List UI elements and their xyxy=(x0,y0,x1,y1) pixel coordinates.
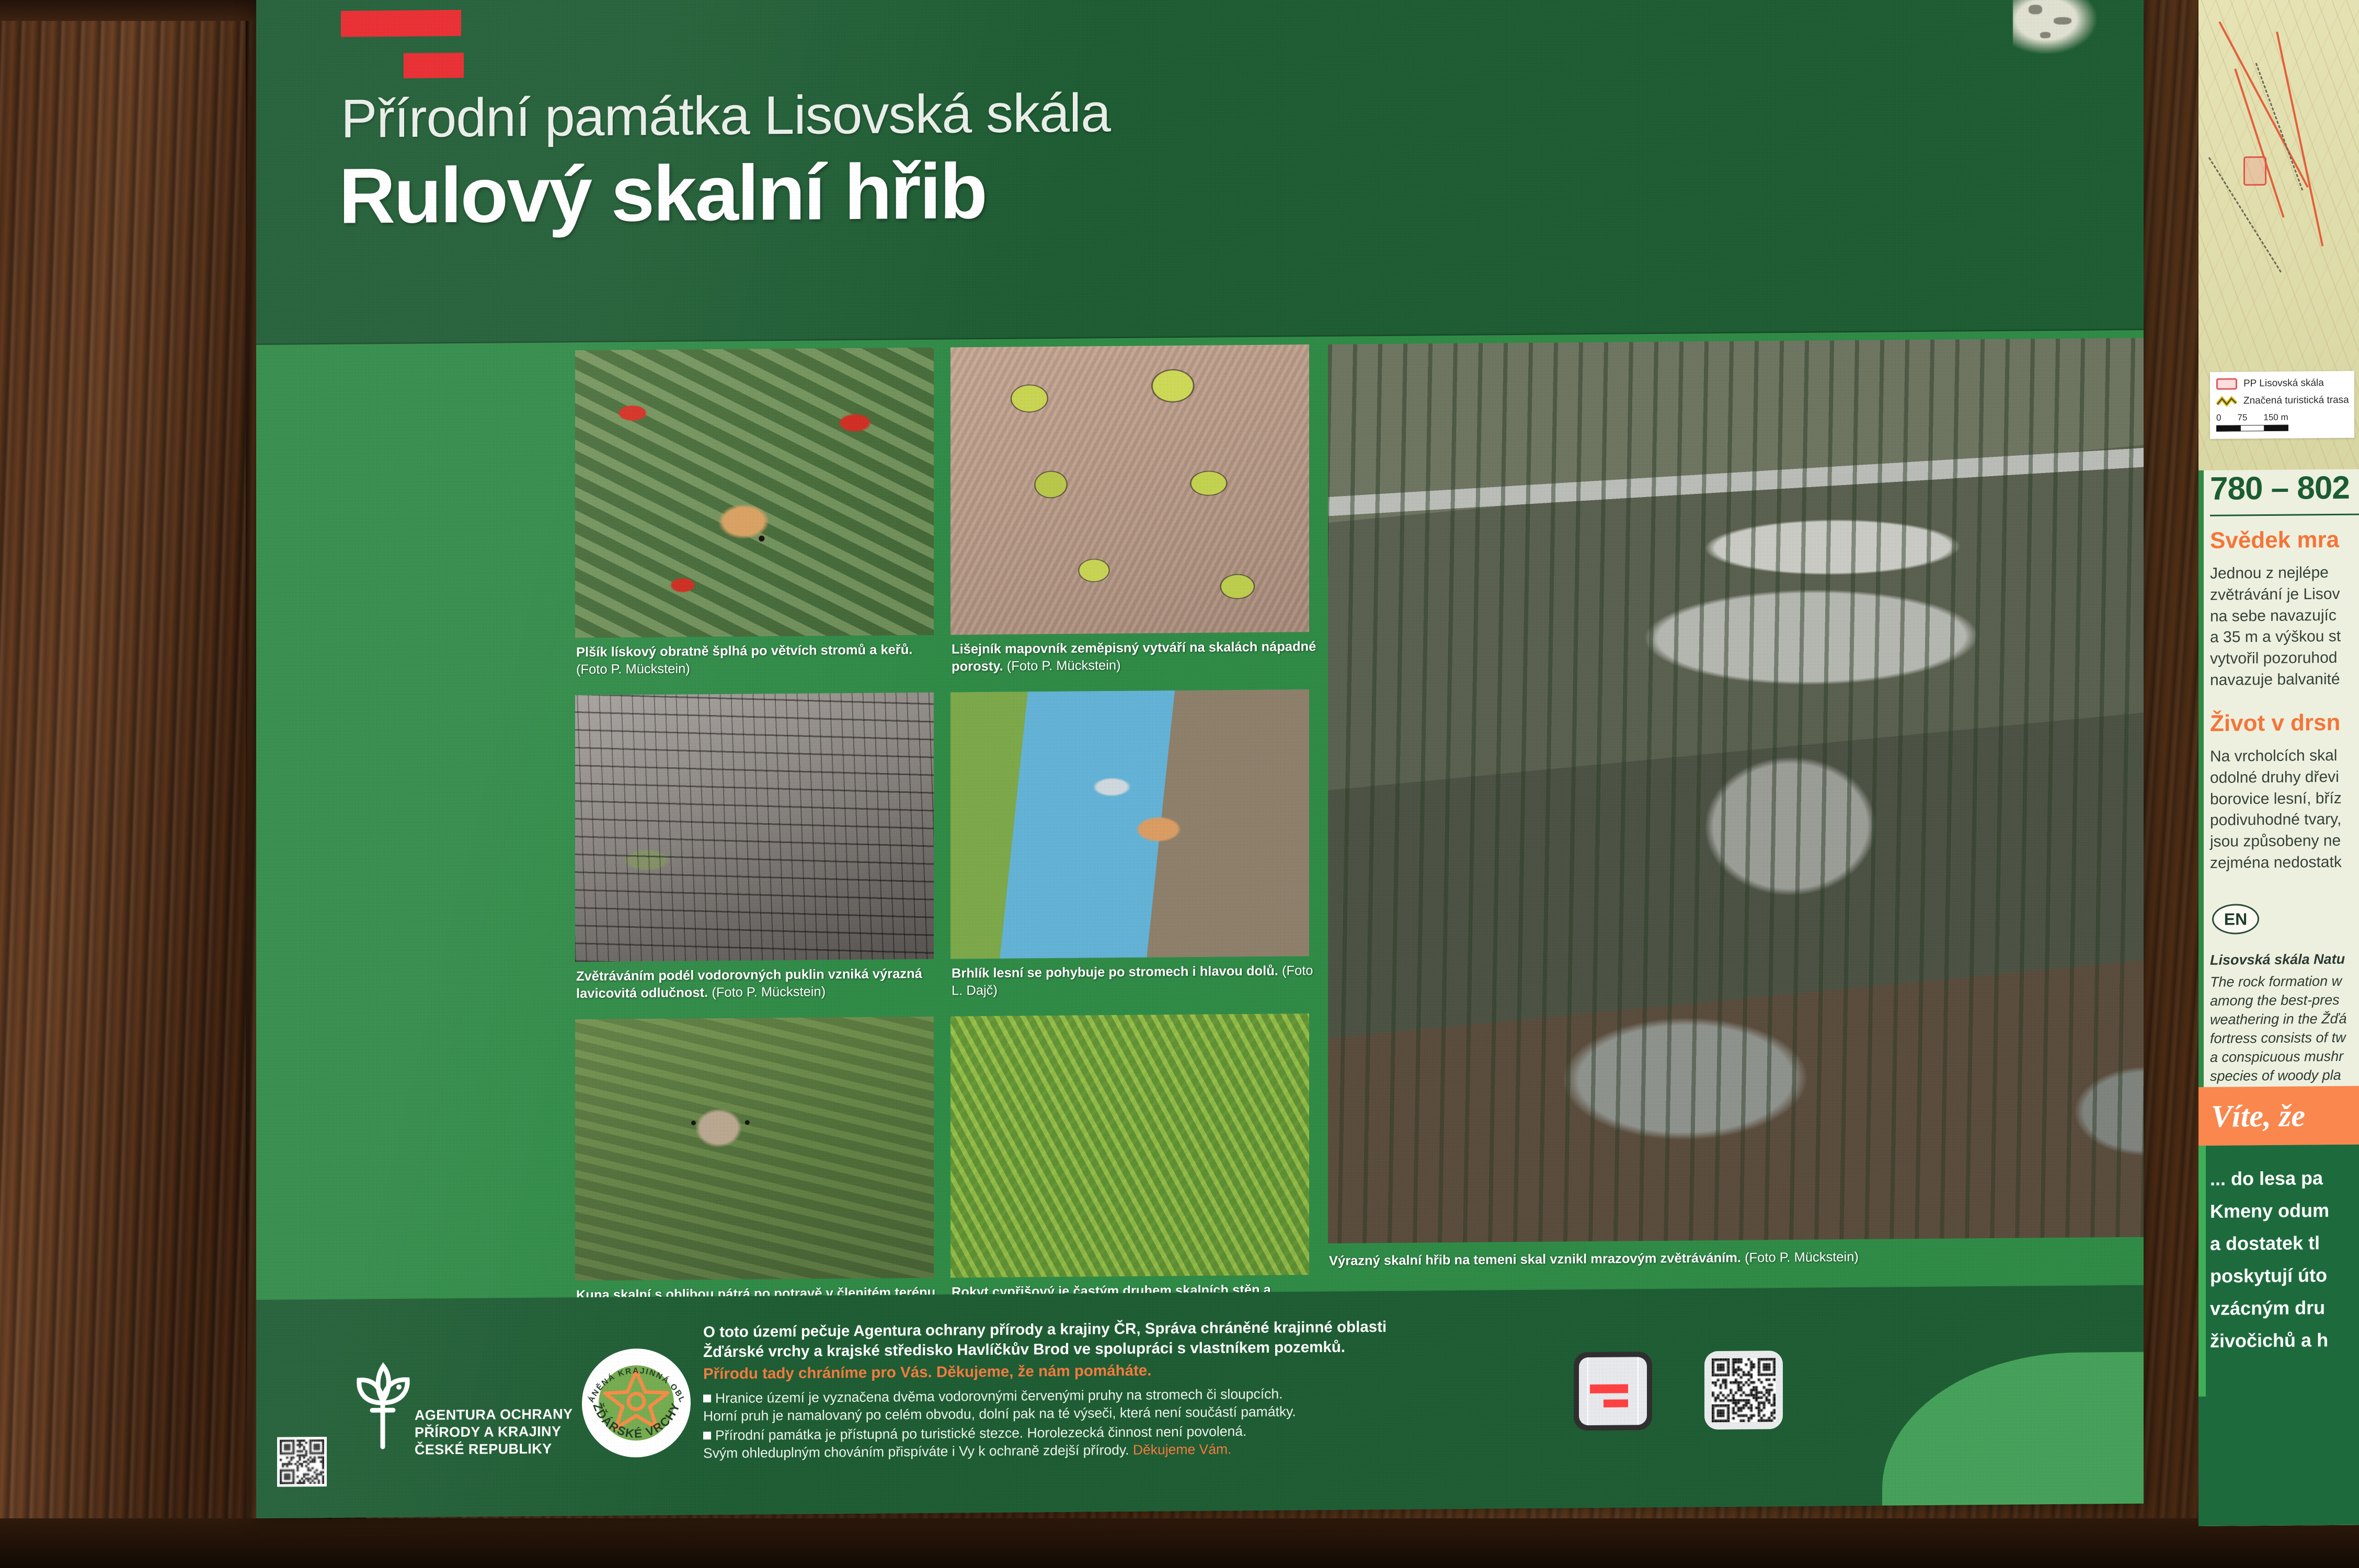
photo-map-lichen xyxy=(951,344,1309,635)
board-subtitle: Přírodní památka Lisovská skála xyxy=(341,82,1110,151)
caption-lichen-text: Lišejník mapovník zeměpisný vytváří na s… xyxy=(952,639,1316,674)
map-site-outline xyxy=(2243,156,2266,186)
vite-ze-text: Víte, že xyxy=(2198,1098,2305,1135)
footer-orange-line: Přírodu tady chráníme pro Vás. Děkujeme,… xyxy=(703,1357,1540,1385)
panel-body-2: Na vrcholcích skal odolné druhy dřevi bo… xyxy=(2210,745,2359,874)
caption-rockwall-credit: (Foto P. Mückstein) xyxy=(712,985,826,1000)
green-l5: vzácným dru xyxy=(2210,1295,2359,1321)
panel-body-1-l1: Jednou z nejlépe xyxy=(2210,562,2359,584)
scale-labels: 0 75 150 m xyxy=(2216,412,2349,423)
legend-row-trail: Značená turistická trasa xyxy=(2216,395,2349,407)
panel-green-block: ... do lesa pa Kmeny odum a dostatek tl … xyxy=(2198,1145,2359,1526)
legend-swatch-trail-icon xyxy=(2216,396,2237,406)
decorative-arc xyxy=(1882,1352,2144,1518)
map-scale-bar xyxy=(2216,424,2349,432)
legend-label-site: PP Lisovská skála xyxy=(2243,377,2324,389)
panel-en-l6: species of woody pla xyxy=(2210,1066,2359,1086)
legend-label-trail: Značená turistická trasa xyxy=(2243,395,2349,407)
green-l6: živočichů a h xyxy=(2210,1327,2359,1354)
qr-code-badge[interactable] xyxy=(1704,1351,1783,1429)
aopk-line1: AGENTURA OCHRANY xyxy=(415,1405,572,1424)
footer-text-block: O toto území pečuje Agentura ochrany pří… xyxy=(703,1316,1540,1462)
scale-label-0: 0 xyxy=(2216,413,2221,423)
czech-tourist-marker-icon xyxy=(341,10,472,79)
photo-rock-wall xyxy=(575,693,934,962)
panel-body-2-l4: podivuhodné tvary, xyxy=(2210,809,2359,832)
caption-lichen: Lišejník mapovník zeměpisný vytváří na s… xyxy=(952,638,1318,676)
panel-body-2-l5: jsou způsobeny ne xyxy=(2210,830,2359,852)
panel-body-2-l3: borovice lesní, bříz xyxy=(2210,788,2359,810)
logo-chko-zdarske-vrchy: CHRÁNĚNÁ KRAJINNÁ OBLAST ŽĎÁRSKÉ VRCHY xyxy=(580,1346,693,1460)
language-badge-en: EN xyxy=(2212,904,2259,935)
caption-lichen-credit: (Foto P. Mückstein) xyxy=(1007,658,1121,674)
caption-dormouse-text: Plšík lískový obratně šplhá po větvích s… xyxy=(576,642,912,660)
caption-dormouse: Plšík lískový obratně šplhá po větvích s… xyxy=(576,641,942,679)
screenshot-root: Přírodní památka Lisovská skála Rulový s… xyxy=(0,0,2359,1568)
panel-en-l4: fortress consists of tw xyxy=(2210,1028,2359,1048)
vite-ze-banner: Víte, že xyxy=(2198,1086,2359,1146)
panel-body-1-l6: navazuje balvanité xyxy=(2210,668,2359,691)
bullet-2-line-2: Svým ohleduplným chováním přispíváte i V… xyxy=(703,1442,1129,1461)
panel-body-1-l4: a 35 m a výškou st xyxy=(2210,626,2359,649)
caption-nuthatch: Brhlík lesní se pohybuje po stromech i h… xyxy=(952,962,1318,1000)
panel-en-l2: among the best-pres xyxy=(2210,990,2359,1011)
aopk-line3: ČESKÉ REPUBLIKY xyxy=(415,1440,572,1458)
elevation-range: 780 – 802 xyxy=(2210,469,2350,508)
panel-en-l3: weathering in the Žďá xyxy=(2210,1009,2359,1030)
panel-heading-2: Život v drsn xyxy=(2210,710,2340,737)
bullet-2-thanks: Děkujeme Vám. xyxy=(1133,1441,1232,1457)
caption-main-credit: (Foto P. Mückstein) xyxy=(1745,1250,1859,1265)
board-footer: AGENTURA OCHRANY PŘÍRODY A KRAJINY ČESKÉ… xyxy=(256,1285,2144,1518)
caption-main-photo: Výrazný skalní hřib na temeni skal vznik… xyxy=(1329,1247,2113,1270)
scale-label-75: 75 xyxy=(2237,412,2247,423)
panel-en-l5: a conspicuous mushr xyxy=(2210,1047,2359,1067)
panel-divider xyxy=(2210,513,2359,516)
chko-roundel-icon: CHRÁNĚNÁ KRAJINNÁ OBLAST ŽĎÁRSKÉ VRCHY xyxy=(580,1346,693,1460)
photo-plaitmoss xyxy=(951,1013,1309,1277)
photo-beech-marten xyxy=(575,1017,934,1281)
wood-bottom-rail xyxy=(0,1518,2359,1568)
panel-body-2-l2: odolné druhy dřevi xyxy=(2210,766,2359,789)
sprout-icon xyxy=(353,1353,416,1452)
panel-body-1-l2: zvětrávání je Lisov xyxy=(2210,583,2359,606)
qr-code-small[interactable] xyxy=(277,1437,327,1487)
footer-bullet-1: Hranice území je vyznačena dvěma vodorov… xyxy=(703,1382,1540,1425)
caption-dormouse-credit: (Foto P. Mückstein) xyxy=(576,662,690,677)
panel-green-strip xyxy=(2198,1146,2206,1397)
legend-swatch-site-icon xyxy=(2216,378,2237,389)
panel-body-1-l3: na sebe navazujíc xyxy=(2210,605,2359,627)
panel-body-2-l1: Na vrcholcích skal xyxy=(2210,745,2359,767)
panel-en-l1: The rock formation w xyxy=(2210,972,2359,992)
photo-nuthatch xyxy=(951,689,1309,959)
footer-bullet-2: Přírodní památka je přístupná po turisti… xyxy=(703,1420,1540,1462)
green-l2: Kmeny odum xyxy=(2210,1197,2359,1224)
panel-body-1-l5: vytvořil pozoruhod xyxy=(2210,647,2359,670)
green-l1: ... do lesa pa xyxy=(2210,1165,2359,1192)
map-legend: PP Lisovská skála Značená turistická tra… xyxy=(2210,371,2354,439)
adjacent-information-panel: PP Lisovská skála Značená turistická tra… xyxy=(2198,0,2359,1526)
scale-label-150: 150 m xyxy=(2263,412,2288,423)
panel-en-body: The rock formation w among the best-pres… xyxy=(2210,972,2359,1104)
qr-code-image[interactable] xyxy=(1712,1358,1776,1422)
information-board: Přírodní památka Lisovská skála Rulový s… xyxy=(256,0,2144,1518)
green-l4: poskytují úto xyxy=(2210,1262,2359,1289)
bullet-square-icon xyxy=(703,1394,711,1402)
caption-rockwall: Zvětráváním podél vodorovných puklin vzn… xyxy=(576,965,942,1003)
wood-plank-left xyxy=(0,0,246,1568)
panel-en-title: Lisovská skála Natu xyxy=(2210,950,2359,970)
green-l3: a dostatek tl xyxy=(2210,1230,2359,1256)
panel-heading-1: Svědek mra xyxy=(2210,527,2339,554)
tourist-marker-badge[interactable] xyxy=(1574,1352,1652,1431)
board-title: Rulový skalní hřib xyxy=(339,146,986,241)
caption-nuthatch-text: Brhlík lesní se pohybuje po stromech i h… xyxy=(952,964,1278,981)
photo-hazel-dormouse xyxy=(575,348,934,638)
legend-row-site: PP Lisovská skála xyxy=(2216,377,2349,390)
panel-body-2-l6: zejména nedostatk xyxy=(2210,851,2359,874)
photo-rock-mushroom xyxy=(1328,336,2144,1243)
caption-main-text: Výrazný skalní hřib na temeni skal vznik… xyxy=(1329,1251,1741,1269)
logo-aopk: AGENTURA OCHRANY PŘÍRODY A KRAJINY ČESKÉ… xyxy=(353,1347,578,1458)
aopk-line2: PŘÍRODY A KRAJINY xyxy=(415,1423,572,1441)
bullet-2-line-1: Přírodní památka je přístupná po turisti… xyxy=(715,1423,1246,1443)
panel-body-1: Jednou z nejlépe zvětrávání je Lisov na … xyxy=(2210,562,2359,691)
logo-aopk-text: AGENTURA OCHRANY PŘÍRODY A KRAJINY ČESKÉ… xyxy=(415,1405,572,1458)
sticker-residue xyxy=(2013,0,2097,54)
bullet-square-icon-2 xyxy=(703,1432,711,1439)
